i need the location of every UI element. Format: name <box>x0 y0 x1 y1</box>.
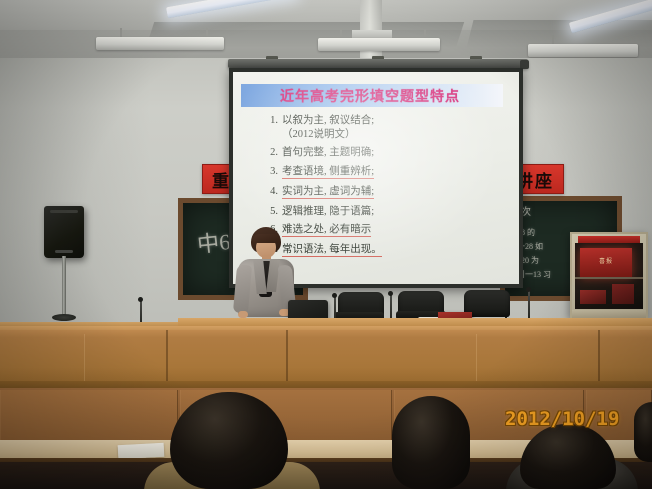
speaker-handle <box>50 210 78 213</box>
slide-item-text: 常识语法, 每年出现。 <box>282 245 382 257</box>
podium-panel-line <box>476 334 477 388</box>
slide-item-text: 难选之处, 必有暗示 <box>282 225 371 237</box>
presenter-fringe <box>253 234 280 243</box>
slide-item-number: 3. <box>265 167 278 179</box>
microphone-stem-2 <box>390 294 392 320</box>
microphone-stem-1 <box>334 296 336 320</box>
audio-speaker <box>44 206 84 258</box>
slide-item-text: 实词为主, 虚词为辅; <box>282 187 374 199</box>
slide-item-4: 4. 实词为主, 虚词为辅; <box>265 187 505 199</box>
fluorescent-fixture-2 <box>318 38 440 51</box>
slide-item-number: 2. <box>265 148 278 159</box>
microphone-head-4 <box>138 297 143 302</box>
slide-subnote: （2012说明文） <box>282 130 505 141</box>
cabinet-red-item <box>580 290 606 304</box>
slide-item-text: 考查语境, 侧重辨析; <box>282 167 374 179</box>
cabinet-box <box>612 284 634 304</box>
audience-head-2 <box>392 396 470 489</box>
slide-item-7: 7. 常识语法, 每年出现。 <box>265 245 505 257</box>
podium-panel-line <box>84 334 85 388</box>
classroom-photo: 中69 上次 一18 的 少一28 如 4一20 为 二引一13 习 重点 讲座… <box>0 0 652 489</box>
slide-item-text: 首句完整, 主题明确; <box>282 148 374 159</box>
slide-item-text: 逻辑推理, 隐于语篇; <box>282 207 374 218</box>
microphone-head-1 <box>332 293 337 298</box>
slide-item-5: 5. 逻辑推理, 隐于语篇; <box>265 207 505 218</box>
presenter-hand-left <box>238 311 248 318</box>
slide-item-1: 1. 以叙为主, 叙议结合; <box>265 116 505 127</box>
slide-item-6: 6. 难选之处, 必有暗示 <box>265 225 505 237</box>
slide-item-number: 1. <box>265 116 278 127</box>
fluorescent-fixture-1 <box>96 37 224 50</box>
fluorescent-fixture-3 <box>528 44 638 57</box>
microphone-stem-3 <box>528 290 530 320</box>
microphone-head-2 <box>388 291 393 296</box>
cabinet-poster-text: 喜报 <box>582 256 630 265</box>
slide-item-number: 4. <box>265 187 278 199</box>
speaker-stand-pole <box>62 256 66 318</box>
wood-panel-1 <box>0 390 178 446</box>
wall-shading-left <box>0 58 150 338</box>
audience-head-4 <box>634 402 652 462</box>
microphone-head-3 <box>526 287 531 292</box>
speaker-stand-base <box>52 314 76 321</box>
cabinet-base <box>572 310 646 318</box>
speaker-port <box>55 250 73 253</box>
cabinet-shelf <box>575 277 643 279</box>
projector-screen-roller <box>228 59 528 68</box>
slide-item-3: 3. 考查语境, 侧重辨析; <box>265 167 505 179</box>
paper-on-audience-desk <box>118 443 165 459</box>
cabinet-red-trim <box>578 236 640 243</box>
slide-item-number: 5. <box>265 207 278 218</box>
slide-body: 1. 以叙为主, 叙议结合; （2012说明文） 2. 首句完整, 主题明确; … <box>265 116 505 265</box>
camera-timestamp: 2012/10/19 <box>505 408 619 430</box>
slide-title: 近年高考完形填空题型特点 <box>245 85 495 106</box>
slide-item-text: 以叙为主, 叙议结合; <box>282 116 374 127</box>
presenter <box>233 227 295 332</box>
slide-item-2: 2. 首句完整, 主题明确; <box>265 148 505 159</box>
